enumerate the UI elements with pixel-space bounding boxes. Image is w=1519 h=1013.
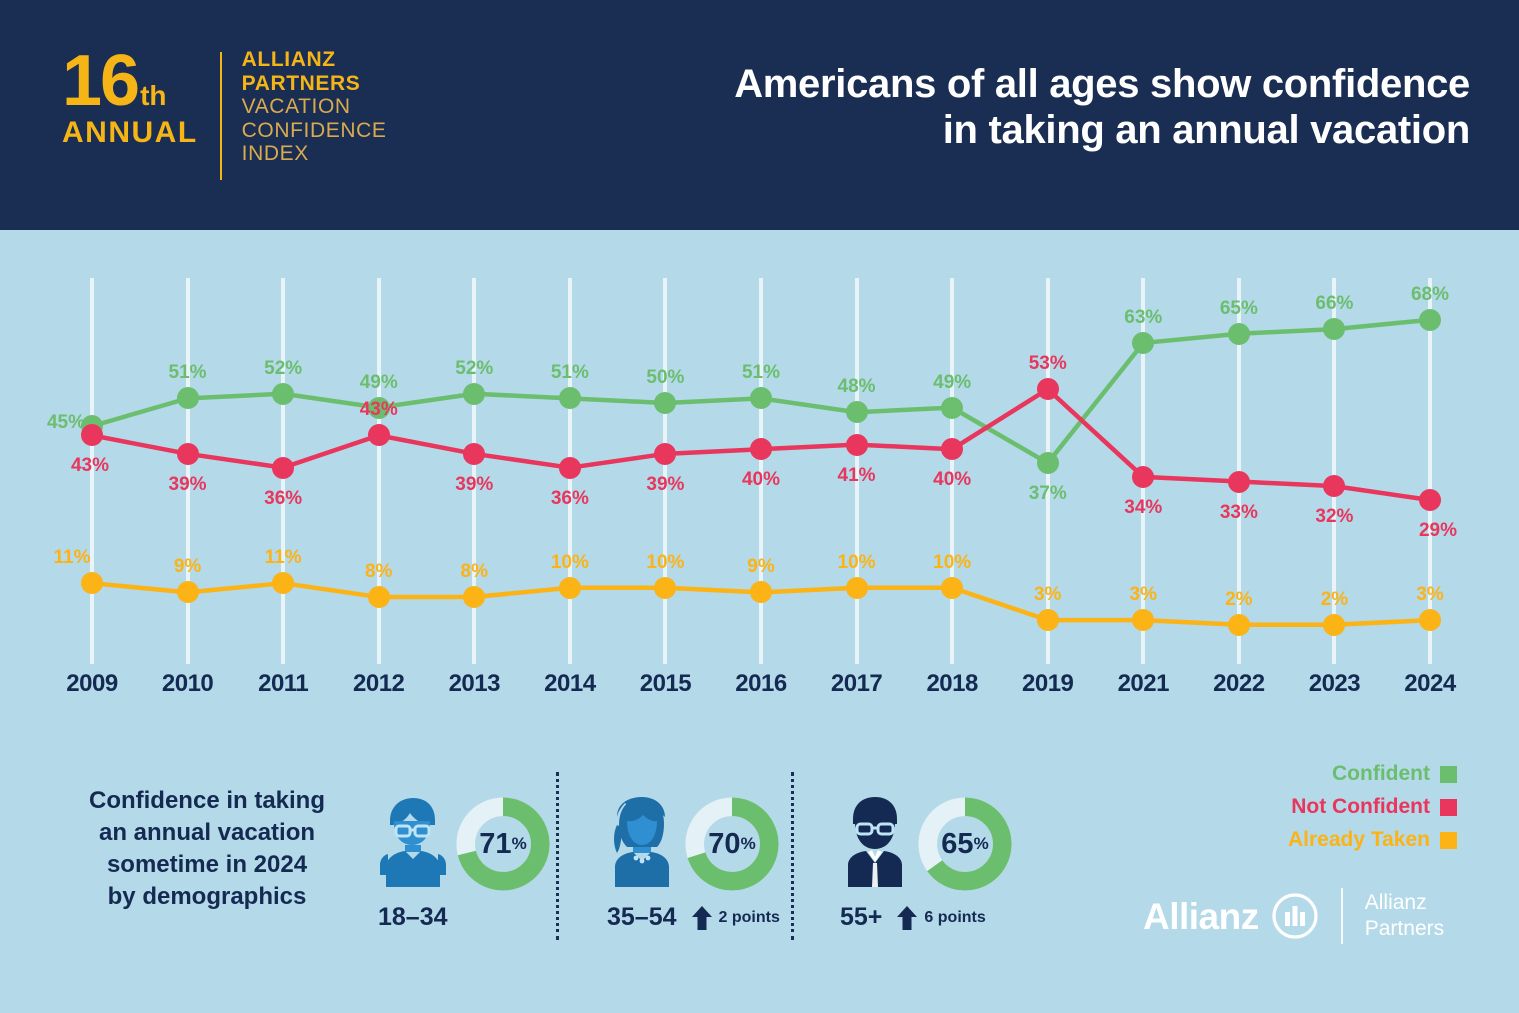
data-point-already-taken-2011[interactable]: [272, 572, 294, 594]
data-point-already-taken-2012[interactable]: [368, 586, 390, 608]
value-label-not-confident-2009: 43%: [71, 455, 109, 477]
anniversary-badge: 16 th ANNUAL: [62, 48, 220, 148]
demographic-group-55-plus: 65% 55+ 6 points: [840, 795, 1014, 893]
older-man-icon: [840, 795, 910, 890]
brand-lockup: 16 th ANNUAL ALLIANZ PARTNERS VACATION C…: [62, 48, 387, 180]
donut-number-18-34: 71: [479, 828, 511, 861]
brand-name-block: ALLIANZ PARTNERS VACATION CONFIDENCE IND…: [242, 48, 387, 166]
allianz-sub-line1: Allianz: [1365, 890, 1444, 916]
demographic-delta-text-35-54: 2 points: [719, 909, 780, 927]
value-label-already-taken-2019: 3%: [1034, 584, 1061, 606]
x-axis-label-2012: 2012: [353, 670, 404, 698]
demographic-age-55-plus: 55+: [840, 903, 882, 932]
anniversary-number-row: 16 th: [62, 48, 167, 114]
donut-percent-35-54: %: [741, 834, 756, 854]
demographic-group-35-54: 70% 35–54 2 points: [607, 795, 781, 893]
data-point-not-confident-2014[interactable]: [559, 457, 581, 479]
donut-percent-18-34: %: [512, 834, 527, 854]
data-point-already-taken-2013[interactable]: [463, 586, 485, 608]
value-label-not-confident-2019: 53%: [1029, 353, 1067, 375]
data-point-already-taken-2015[interactable]: [654, 577, 676, 599]
value-label-already-taken-2021: 3%: [1130, 584, 1157, 606]
young-man-icon: [378, 795, 448, 890]
data-point-not-confident-2021[interactable]: [1132, 466, 1154, 488]
data-point-already-taken-2018[interactable]: [941, 577, 963, 599]
brand-line-index: INDEX: [242, 142, 387, 166]
demographic-footer-55-plus: 55+ 6 points: [840, 903, 1050, 932]
value-label-confident-2024: 68%: [1411, 284, 1449, 306]
value-label-not-confident-2017: 41%: [838, 465, 876, 487]
x-axis-label-2014: 2014: [544, 670, 595, 698]
x-axis-label-2010: 2010: [162, 670, 213, 698]
brand-line-partners: PARTNERS: [242, 72, 387, 96]
allianz-mark-icon: [1271, 892, 1319, 940]
demographics-caption-line-1: Confidence in taking: [62, 785, 352, 817]
value-label-already-taken-2012: 8%: [365, 561, 392, 583]
line-chart: 45%51%52%49%52%51%50%51%48%49%37%63%65%6…: [0, 230, 1519, 730]
legend-swatch: [1440, 766, 1457, 783]
data-point-not-confident-2013[interactable]: [463, 443, 485, 465]
x-axis-label-2022: 2022: [1213, 670, 1264, 698]
value-label-not-confident-2014: 36%: [551, 488, 589, 510]
donut-chart-55-plus: 65%: [916, 795, 1014, 893]
value-label-not-confident-2018: 40%: [933, 469, 971, 491]
data-point-not-confident-2023[interactable]: [1323, 475, 1345, 497]
demographics-caption-line-3: sometime in 2024: [62, 849, 352, 881]
legend-item-not-confident[interactable]: Not Confident: [1291, 795, 1457, 819]
value-label-already-taken-2016: 9%: [747, 556, 774, 578]
x-axis-label-2018: 2018: [926, 670, 977, 698]
data-point-already-taken-2010[interactable]: [177, 581, 199, 603]
value-label-already-taken-2013: 8%: [461, 561, 488, 583]
value-label-confident-2015: 50%: [646, 367, 684, 389]
value-label-confident-2012: 49%: [360, 372, 398, 394]
legend-label: Already Taken: [1288, 828, 1430, 852]
data-point-already-taken-2019[interactable]: [1037, 609, 1059, 631]
data-point-not-confident-2018[interactable]: [941, 438, 963, 460]
data-point-already-taken-2017[interactable]: [846, 577, 868, 599]
demographics-caption-line-4: by demographics: [62, 881, 352, 913]
anniversary-ordinal: th: [140, 80, 166, 112]
donut-chart-35-54: 70%: [683, 795, 781, 893]
data-point-already-taken-2014[interactable]: [559, 577, 581, 599]
demographic-age-18-34: 18–34: [378, 903, 448, 932]
page-title-line1: Americans of all ages show confidence: [560, 62, 1470, 108]
demographic-delta-35-54: 2 points: [691, 905, 780, 931]
value-label-already-taken-2017: 10%: [838, 552, 876, 574]
value-label-already-taken-2015: 10%: [646, 552, 684, 574]
allianz-partners-label: Allianz Partners: [1365, 890, 1444, 943]
value-label-not-confident-2012: 43%: [360, 399, 398, 421]
x-axis-label-2023: 2023: [1309, 670, 1360, 698]
brand-line-confidence: CONFIDENCE: [242, 119, 387, 143]
data-point-confident-2021[interactable]: [1132, 332, 1154, 354]
value-label-confident-2022: 65%: [1220, 298, 1258, 320]
x-axis-label-2016: 2016: [735, 670, 786, 698]
value-label-confident-2011: 52%: [264, 358, 302, 380]
data-point-not-confident-2012[interactable]: [368, 424, 390, 446]
donut-chart-18-34: 71%: [454, 795, 552, 893]
value-label-not-confident-2013: 39%: [455, 474, 493, 496]
data-point-already-taken-2023[interactable]: [1323, 614, 1345, 636]
value-label-already-taken-2010: 9%: [174, 556, 201, 578]
value-label-confident-2016: 51%: [742, 362, 780, 384]
header-banner: 16 th ANNUAL ALLIANZ PARTNERS VACATION C…: [0, 0, 1519, 230]
legend-label: Not Confident: [1291, 795, 1430, 819]
legend-swatch: [1440, 832, 1457, 849]
x-axis-label-2017: 2017: [831, 670, 882, 698]
demographic-footer-35-54: 35–54 2 points: [607, 903, 817, 932]
data-point-confident-2018[interactable]: [941, 397, 963, 419]
x-axis-label-2021: 2021: [1118, 670, 1169, 698]
anniversary-number: 16: [62, 48, 138, 114]
data-point-not-confident-2016[interactable]: [750, 438, 772, 460]
donut-value-35-54: 70%: [683, 795, 781, 893]
data-point-confident-2019[interactable]: [1037, 452, 1059, 474]
data-point-confident-2010[interactable]: [177, 387, 199, 409]
data-point-confident-2011[interactable]: [272, 383, 294, 405]
value-label-not-confident-2011: 36%: [264, 488, 302, 510]
data-point-not-confident-2011[interactable]: [272, 457, 294, 479]
data-point-confident-2017[interactable]: [846, 401, 868, 423]
demographic-delta-text-55-plus: 6 points: [924, 909, 985, 927]
value-label-not-confident-2010: 39%: [169, 474, 207, 496]
value-label-confident-2014: 51%: [551, 362, 589, 384]
value-label-already-taken-2022: 2%: [1225, 589, 1252, 611]
data-point-confident-2013[interactable]: [463, 383, 485, 405]
brand-line-allianz: ALLIANZ: [242, 48, 387, 72]
data-point-already-taken-2016[interactable]: [750, 581, 772, 603]
woman-icon: [607, 795, 677, 890]
x-axis-label-2009: 2009: [66, 670, 117, 698]
value-label-confident-2017: 48%: [838, 376, 876, 398]
data-point-already-taken-2022[interactable]: [1228, 614, 1250, 636]
data-point-not-confident-2015[interactable]: [654, 443, 676, 465]
value-label-not-confident-2015: 39%: [646, 474, 684, 496]
value-label-not-confident-2023: 32%: [1315, 506, 1353, 528]
donut-number-35-54: 70: [708, 828, 740, 861]
value-label-confident-2021: 63%: [1124, 307, 1162, 329]
x-axis-label-2011: 2011: [258, 670, 308, 698]
demographics-caption-line-2: an annual vacation: [62, 817, 352, 849]
data-point-not-confident-2022[interactable]: [1228, 471, 1250, 493]
data-point-already-taken-2021[interactable]: [1132, 609, 1154, 631]
data-point-confident-2016[interactable]: [750, 387, 772, 409]
page-title: Americans of all ages show confidence in…: [560, 62, 1470, 153]
value-label-already-taken-2024: 3%: [1416, 584, 1443, 606]
x-axis-label-2015: 2015: [640, 670, 691, 698]
legend-item-already-taken[interactable]: Already Taken: [1288, 828, 1457, 852]
legend-swatch: [1440, 799, 1457, 816]
data-point-not-confident-2017[interactable]: [846, 434, 868, 456]
value-label-confident-2023: 66%: [1315, 293, 1353, 315]
value-label-confident-2019: 37%: [1029, 483, 1067, 505]
data-point-confident-2023[interactable]: [1323, 318, 1345, 340]
legend-item-confident[interactable]: Confident: [1332, 762, 1457, 786]
value-label-not-confident-2022: 33%: [1220, 502, 1258, 524]
demographic-group-18-34: 71% 18–34: [378, 795, 552, 893]
data-point-already-taken-2009[interactable]: [81, 572, 103, 594]
value-label-not-confident-2021: 34%: [1124, 497, 1162, 519]
demographics-caption: Confidence in takingan annual vacationso…: [62, 785, 352, 913]
value-label-confident-2009: 45%: [47, 412, 85, 434]
page-title-line2: in taking an annual vacation: [560, 108, 1470, 154]
brand-line-vacation: VACATION: [242, 95, 387, 119]
demographic-delta-55-plus: 6 points: [896, 905, 985, 931]
value-label-confident-2010: 51%: [169, 362, 207, 384]
data-point-confident-2014[interactable]: [559, 387, 581, 409]
donut-percent-55-plus: %: [974, 834, 989, 854]
allianz-wordmark: Allianz: [1143, 898, 1259, 935]
x-axis-label-2024: 2024: [1404, 670, 1455, 698]
donut-number-55-plus: 65: [941, 828, 973, 861]
arrow-up-icon: [896, 905, 918, 931]
anniversary-word: ANNUAL: [62, 118, 198, 148]
data-point-not-confident-2019[interactable]: [1037, 378, 1059, 400]
demographic-footer-18-34: 18–34: [378, 903, 588, 932]
data-point-confident-2015[interactable]: [654, 392, 676, 414]
data-point-already-taken-2024[interactable]: [1419, 609, 1441, 631]
donut-value-55-plus: 65%: [916, 795, 1014, 893]
value-label-not-confident-2024: 29%: [1419, 520, 1457, 542]
value-label-already-taken-2023: 2%: [1321, 589, 1348, 611]
legend-label: Confident: [1332, 762, 1430, 786]
value-label-already-taken-2011: 11%: [265, 547, 302, 569]
brand-divider: [220, 52, 222, 180]
donut-value-18-34: 71%: [454, 795, 552, 893]
allianz-logo: Allianz Allianz Partners: [1143, 888, 1444, 944]
allianz-sub-line2: Partners: [1365, 916, 1444, 942]
value-label-already-taken-2014: 10%: [551, 552, 589, 574]
allianz-logo-divider: [1341, 888, 1343, 944]
value-label-confident-2013: 52%: [455, 358, 493, 380]
chart-legend: ConfidentNot ConfidentAlready Taken: [1288, 762, 1457, 861]
value-label-already-taken-2018: 10%: [933, 552, 971, 574]
value-label-not-confident-2016: 40%: [742, 469, 780, 491]
value-label-already-taken-2009: 11%: [54, 547, 91, 569]
x-axis-label-2019: 2019: [1022, 670, 1073, 698]
data-point-not-confident-2010[interactable]: [177, 443, 199, 465]
data-point-confident-2022[interactable]: [1228, 323, 1250, 345]
x-axis-label-2013: 2013: [449, 670, 500, 698]
demographic-age-35-54: 35–54: [607, 903, 677, 932]
data-point-confident-2024[interactable]: [1419, 309, 1441, 331]
arrow-up-icon: [691, 905, 713, 931]
data-point-not-confident-2024[interactable]: [1419, 489, 1441, 511]
value-label-confident-2018: 49%: [933, 372, 971, 394]
